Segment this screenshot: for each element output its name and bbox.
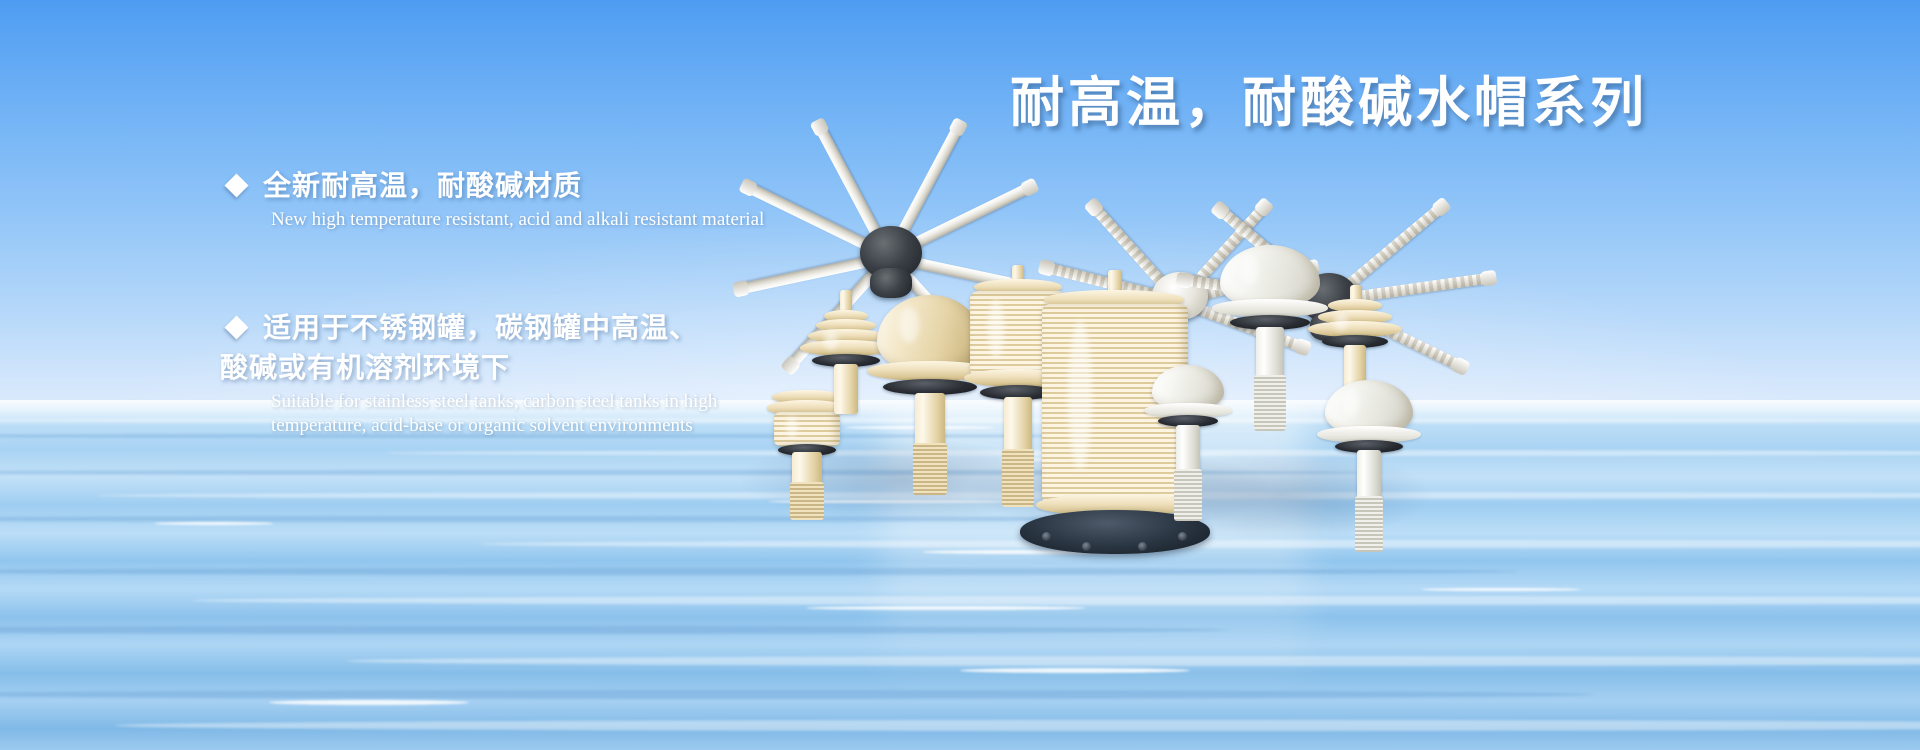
promo-banner: 耐高温，耐酸碱水帽系列 全新耐高温，耐酸碱材质 New high tempera… [0,0,1920,750]
feature-1-en: New high temperature resistant, acid and… [271,208,764,233]
small-white-cap-nozzle [1140,365,1236,550]
feature-2-cn-line-2: 酸碱或有机溶剂环境下 [220,348,698,388]
feature-2-en: Suitable for stainless steel tanks, carb… [271,390,717,439]
feature-1-en-line-1: New high temperature resistant, acid and… [271,208,764,233]
page-title: 耐高温，耐酸碱水帽系列 [1010,58,1648,137]
feature-2-cn: 适用于不锈钢罐，碳钢罐中高温、 酸碱或有机溶剂环境下 [263,308,698,388]
feature-bullet-2: 适用于不锈钢罐，碳钢罐中高温、 酸碱或有机溶剂环境下 Suitable for … [228,308,717,439]
feature-2-cn-line-1: 适用于不锈钢罐，碳钢罐中高温、 [263,308,698,348]
diamond-bullet-icon [224,315,248,339]
feature-bullet-1: 全新耐高温，耐酸碱材质 New high temperature resista… [228,166,764,232]
feature-1-cn-line-1: 全新耐高温，耐酸碱材质 [263,166,582,206]
white-dome-cap-nozzle-far-right [1315,380,1425,575]
diamond-bullet-icon [224,173,248,197]
feature-2-en-line-2: temperature, acid-base or organic solven… [271,414,717,439]
feature-2-en-line-1: Suitable for stainless steel tanks, carb… [271,390,717,415]
water-cap-nozzle-product-group [700,140,1520,570]
